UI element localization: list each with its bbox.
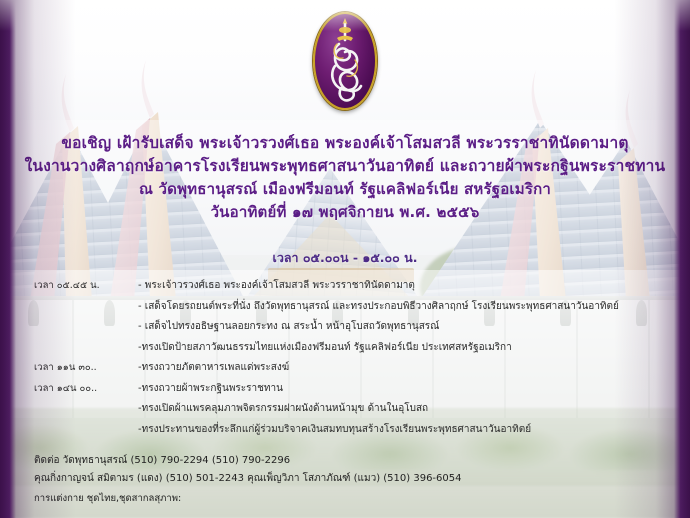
invitation-poster: ขอเชิญ เฝ้ารับเสด็จ พระเจ้าวรวงศ์เธอ พระ… — [0, 0, 690, 518]
schedule-text: -ทรงเปิดป้ายสภาวัฒนธรรมไทยแห่งเมืองฟรีมอ… — [138, 338, 664, 359]
schedule-list: เวลา ๐๕.๔๕ น. - พระเจ้าวรวงศ์เธอ พระองค์… — [34, 276, 664, 440]
royal-cypher-emblem — [313, 12, 377, 110]
royal-cypher-icon — [315, 14, 375, 108]
schedule-text: -ทรงถวายภัตตาหารเพลแด่พระสงฆ์ — [138, 358, 664, 379]
schedule-row: - เสด็จโดยรถยนต์พระที่นั่ง ถึงวัดพุทธานุ… — [34, 297, 664, 318]
schedule-row: -ทรงเปิดผ้าแพรคลุมภาพจิตรกรรมฝาผนังด้านห… — [34, 399, 664, 420]
event-time-heading: เวลา ๐๕.๐๐น - ๑๕.๐๐ น. — [0, 248, 690, 268]
schedule-time: เวลา ๐๕.๔๕ น. — [34, 276, 138, 297]
schedule-row: เวลา ๑๑น ๓๐.. -ทรงถวายภัตตาหารเพลแด่พระส… — [34, 358, 664, 379]
schedule-row: -ทรงประทานของที่ระลึกแก่ผู้ร่วมบริจาคเงิ… — [34, 420, 664, 441]
contact-people: คุณกิ่งกาญจน์ สมิตามร (แดง) (510) 501-22… — [34, 470, 664, 488]
contact-temple: ติดต่อ วัดพุทธานุสรณ์ (510) 790-2294 (51… — [34, 452, 664, 470]
title-line-2: ในงานวางศิลาฤกษ์อาคารโรงเรียนพระพุทธศาสน… — [0, 155, 690, 178]
schedule-text: -ทรงถวายผ้าพระกฐินพระราชทาน — [138, 379, 664, 400]
schedule-text: - เสด็จไปทรงอธิษฐานลอยกระทง ณ สระน้ำ หน้… — [138, 317, 664, 338]
schedule-text: - เสด็จโดยรถยนต์พระที่นั่ง ถึงวัดพุทธานุ… — [138, 297, 664, 318]
title-line-1: ขอเชิญ เฝ้ารับเสด็จ พระเจ้าวรวงศ์เธอ พระ… — [0, 132, 690, 155]
schedule-text: - พระเจ้าวรวงศ์เธอ พระองค์เจ้าโสมสวลี พร… — [138, 276, 664, 297]
schedule-time: เวลา ๑๔น ๐๐.. — [34, 379, 138, 400]
left-purple-edge — [0, 0, 16, 518]
page-title: ขอเชิญ เฝ้ารับเสด็จ พระเจ้าวรวงศ์เธอ พระ… — [0, 132, 690, 224]
title-line-4: วันอาทิตย์ที่ ๑๗ พฤศจิกายน พ.ศ. ๒๕๕๖ — [0, 201, 690, 224]
dress-code: การแต่งกาย ชุดไทย,ชุดสากลสุภาพ: — [34, 490, 664, 508]
schedule-time: เวลา ๑๑น ๓๐.. — [34, 358, 138, 379]
contact-section: ติดต่อ วัดพุทธานุสรณ์ (510) 790-2294 (51… — [34, 452, 664, 508]
schedule-row: -ทรงเปิดป้ายสภาวัฒนธรรมไทยแห่งเมืองฟรีมอ… — [34, 338, 664, 359]
title-line-3: ณ วัดพุทธานุสรณ์ เมืองฟรีมอนท์ รัฐแคลิฟอ… — [0, 178, 690, 201]
schedule-row: - เสด็จไปทรงอธิษฐานลอยกระทง ณ สระน้ำ หน้… — [34, 317, 664, 338]
schedule-text: -ทรงประทานของที่ระลึกแก่ผู้ร่วมบริจาคเงิ… — [138, 420, 664, 441]
schedule-text: -ทรงเปิดผ้าแพรคลุมภาพจิตรกรรมฝาผนังด้านห… — [138, 399, 664, 420]
right-purple-edge — [674, 0, 690, 518]
schedule-row: เวลา ๑๔น ๐๐.. -ทรงถวายผ้าพระกฐินพระราชทา… — [34, 379, 664, 400]
schedule-row: เวลา ๐๕.๔๕ น. - พระเจ้าวรวงศ์เธอ พระองค์… — [34, 276, 664, 297]
